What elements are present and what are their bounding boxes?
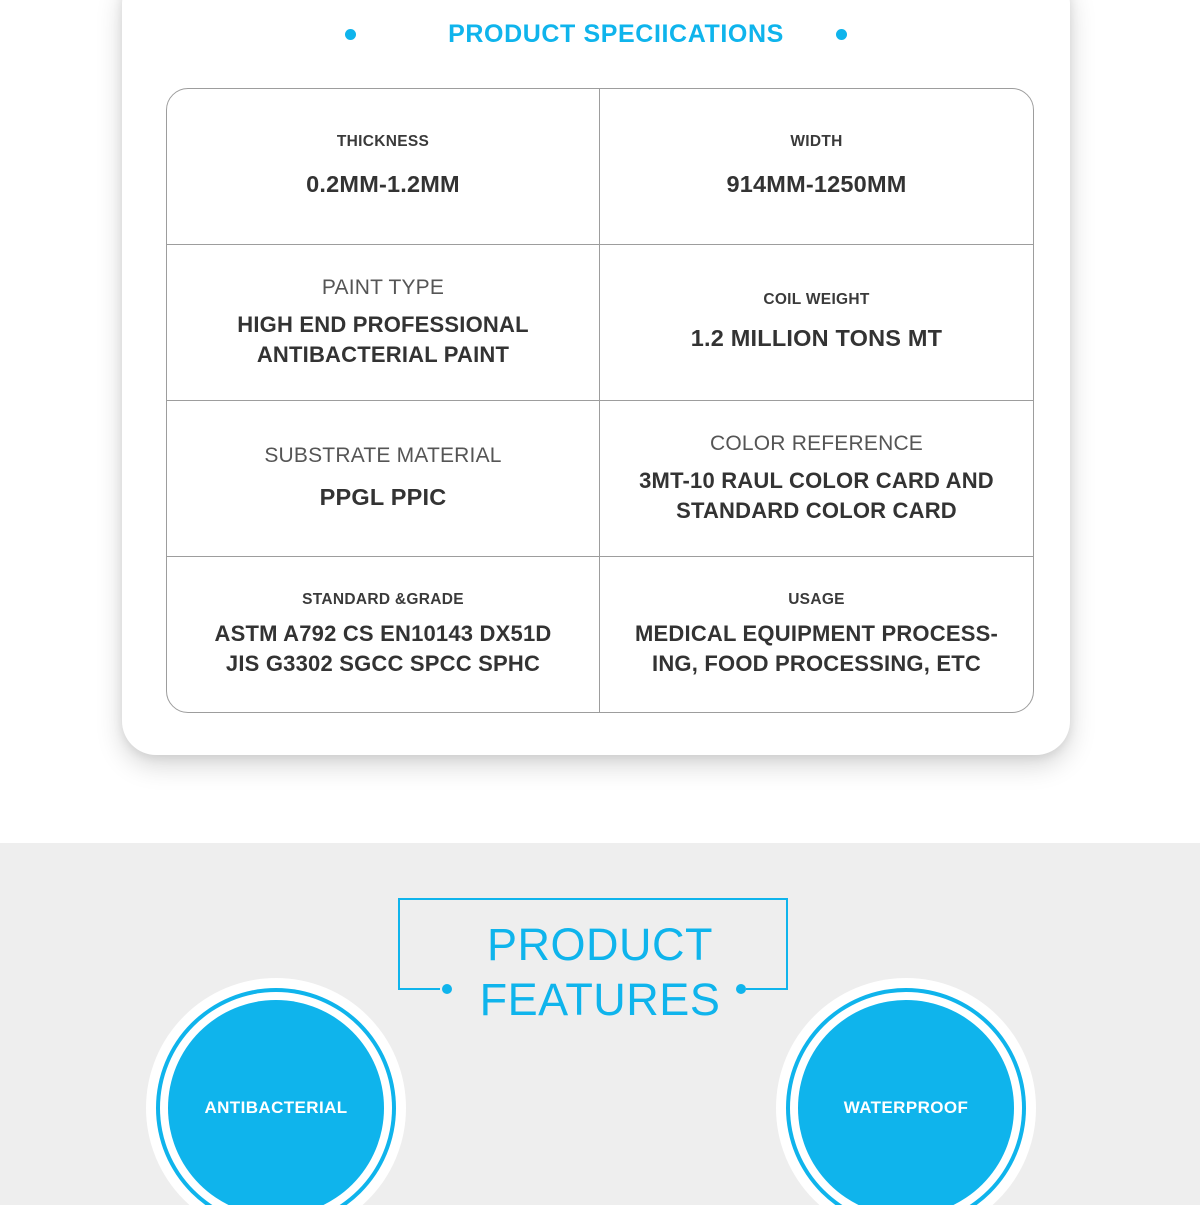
spec-cell-substrate-material: SUBSTRATE MATERIAL PPGL PPIC (167, 401, 600, 556)
features-title-line-2: FEATURES (0, 973, 1200, 1028)
spec-cell-coil-weight: COIL WEIGHT 1.2 MILLION TONS MT (600, 245, 1033, 400)
specifications-title-row: PRODUCT SPECIICATIONS (122, 14, 1070, 54)
spec-value-line-2: ANTIBACTERIAL PAINT (257, 340, 509, 369)
spec-value: 1.2 MILLION TONS MT (691, 323, 942, 354)
spec-label: USAGE (788, 591, 845, 609)
spec-value-line-2: ING, FOOD PROCESSING, ETC (652, 649, 981, 678)
spec-value: 914MM-1250MM (726, 169, 906, 200)
feature-circle-antibacterial[interactable]: ANTIBACTERIAL (168, 1000, 384, 1205)
feature-circle-waterproof[interactable]: WATERPROOF (798, 1000, 1014, 1205)
spec-label: COIL WEIGHT (763, 291, 869, 309)
spec-value-line-1: HIGH END PROFESSIONAL (237, 310, 528, 339)
bullet-dot-left-icon (345, 29, 356, 40)
feature-circle-label: ANTIBACTERIAL (204, 1098, 347, 1118)
spec-value-line-1: 3MT-10 RAUL COLOR CARD AND (639, 466, 994, 495)
spec-cell-thickness: THICKNESS 0.2MM-1.2MM (167, 89, 600, 244)
feature-circle-label: WATERPROOF (844, 1098, 969, 1118)
spec-label: WIDTH (790, 133, 842, 151)
specifications-table: THICKNESS 0.2MM-1.2MM WIDTH 914MM-1250MM… (166, 88, 1034, 713)
spec-label: STANDARD &GRADE (302, 591, 464, 609)
frame-top-line (398, 898, 788, 900)
spec-value-line-1: ASTM A792 CS EN10143 DX51D (215, 619, 552, 648)
specifications-card: PRODUCT SPECIICATIONS THICKNESS 0.2MM-1.… (122, 0, 1070, 755)
spec-cell-standard-grade: STANDARD &GRADE ASTM A792 CS EN10143 DX5… (167, 557, 600, 712)
table-row: PAINT TYPE HIGH END PROFESSIONAL ANTIBAC… (167, 245, 1033, 401)
spec-value-line-2: STANDARD COLOR CARD (676, 496, 957, 525)
spec-cell-usage: USAGE MEDICAL EQUIPMENT PROCESS- ING, FO… (600, 557, 1033, 712)
spec-value: 0.2MM-1.2MM (306, 169, 460, 200)
table-row: SUBSTRATE MATERIAL PPGL PPIC COLOR REFER… (167, 401, 1033, 557)
features-title: PRODUCT FEATURES (0, 918, 1200, 1028)
spec-label: SUBSTRATE MATERIAL (264, 444, 501, 468)
spec-value-line-1: MEDICAL EQUIPMENT PROCESS- (635, 619, 998, 648)
spec-cell-width: WIDTH 914MM-1250MM (600, 89, 1033, 244)
product-specifications-section: PRODUCT SPECIICATIONS THICKNESS 0.2MM-1.… (0, 0, 1200, 843)
features-title-line-1: PRODUCT (0, 918, 1200, 973)
spec-label: PAINT TYPE (322, 276, 444, 300)
spec-value-line-2: JIS G3302 SGCC SPCC SPHC (226, 649, 540, 678)
spec-cell-paint-type: PAINT TYPE HIGH END PROFESSIONAL ANTIBAC… (167, 245, 600, 400)
spec-value: PPGL PPIC (320, 482, 447, 513)
spec-label: COLOR REFERENCE (710, 432, 923, 456)
table-row: STANDARD &GRADE ASTM A792 CS EN10143 DX5… (167, 557, 1033, 712)
page-title: PRODUCT SPECIICATIONS (448, 20, 784, 49)
table-row: THICKNESS 0.2MM-1.2MM WIDTH 914MM-1250MM (167, 89, 1033, 245)
spec-cell-color-reference: COLOR REFERENCE 3MT-10 RAUL COLOR CARD A… (600, 401, 1033, 556)
bullet-dot-right-icon (836, 29, 847, 40)
spec-label: THICKNESS (337, 133, 429, 151)
